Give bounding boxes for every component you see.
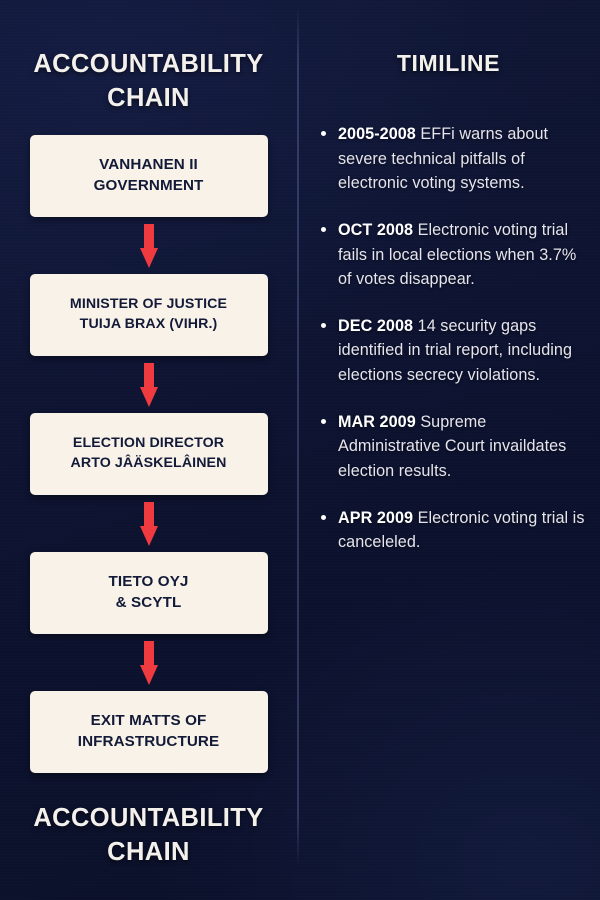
bullet-icon <box>321 515 326 520</box>
arrow-shaft <box>144 363 154 389</box>
infographic-poster: ACCOUNTABILITY CHAIN VANHANEN II GOVERNM… <box>0 0 600 900</box>
accountability-chain-panel: ACCOUNTABILITY CHAIN VANHANEN II GOVERNM… <box>0 0 297 900</box>
arrow-shaft <box>144 641 154 667</box>
chain-node-label: ELECTION DIRECTOR ARTO JÂÄSKELÂINEN <box>38 434 260 473</box>
arrow-shaft <box>144 224 154 250</box>
column-divider <box>297 8 299 866</box>
arrow-down-icon <box>140 502 158 546</box>
bullet-icon <box>321 419 326 424</box>
arrow-head <box>140 248 158 268</box>
arrow-down-icon-4 <box>0 634 297 691</box>
accountability-chain-title-bottom: ACCOUNTABILITY CHAIN <box>0 802 297 870</box>
chain-node-minister: MINISTER OF JUSTICE TUIJA BRAX (VIHR.) <box>30 274 268 356</box>
chain-node-election-director: ELECTION DIRECTOR ARTO JÂÄSKELÂINEN <box>30 413 268 495</box>
bullet-icon <box>321 131 326 136</box>
timeline-item-date: 2005-2008 <box>338 125 416 143</box>
timeline-panel: TIMILINE 2005-2008 EFFi warns about seve… <box>297 0 600 900</box>
arrow-head <box>140 665 158 685</box>
arrow-down-icon <box>140 224 158 268</box>
chain-node-government: VANHANEN II GOVERNMENT <box>30 135 268 217</box>
chain-node-label: TIETO OYJ & SCYTL <box>38 572 260 614</box>
timeline-item: DEC 2008 14 security gaps identified in … <box>319 314 591 388</box>
timeline-title: TIMILINE <box>297 50 600 77</box>
arrow-down-icon <box>140 363 158 407</box>
chain-node-label: MINISTER OF JUSTICE TUIJA BRAX (VIHR.) <box>38 295 260 334</box>
timeline-item-date: DEC 2008 <box>338 317 413 335</box>
arrow-down-icon <box>140 641 158 685</box>
arrow-down-icon-3 <box>0 495 297 552</box>
chain-node-label: EXIT MATTS OF INFRASTRUCTURE <box>38 711 260 753</box>
accountability-chain-flow: VANHANEN II GOVERNMENT MINISTER OF JUSTI… <box>0 135 297 773</box>
arrow-down-icon-2 <box>0 356 297 413</box>
arrow-down-icon-1 <box>0 217 297 274</box>
timeline-item-date: MAR 2009 <box>338 413 416 431</box>
timeline-item: APR 2009 Electronic voting trial is canc… <box>319 506 591 555</box>
chain-node-infrastructure: EXIT MATTS OF INFRASTRUCTURE <box>30 691 268 773</box>
arrow-shaft <box>144 502 154 528</box>
chain-node-label: VANHANEN II GOVERNMENT <box>38 155 260 197</box>
arrow-head <box>140 387 158 407</box>
bullet-icon <box>321 323 326 328</box>
arrow-head <box>140 526 158 546</box>
timeline-item: MAR 2009 Supreme Administrative Court in… <box>319 410 591 484</box>
timeline-list: 2005-2008 EFFi warns about severe techni… <box>319 122 591 577</box>
timeline-item: OCT 2008 Electronic voting trial fails i… <box>319 218 591 292</box>
timeline-item-date: APR 2009 <box>338 509 413 527</box>
timeline-item: 2005-2008 EFFi warns about severe techni… <box>319 122 591 196</box>
accountability-chain-title-top: ACCOUNTABILITY CHAIN <box>0 48 297 116</box>
bullet-icon <box>321 227 326 232</box>
chain-node-vendors: TIETO OYJ & SCYTL <box>30 552 268 634</box>
timeline-item-date: OCT 2008 <box>338 221 413 239</box>
